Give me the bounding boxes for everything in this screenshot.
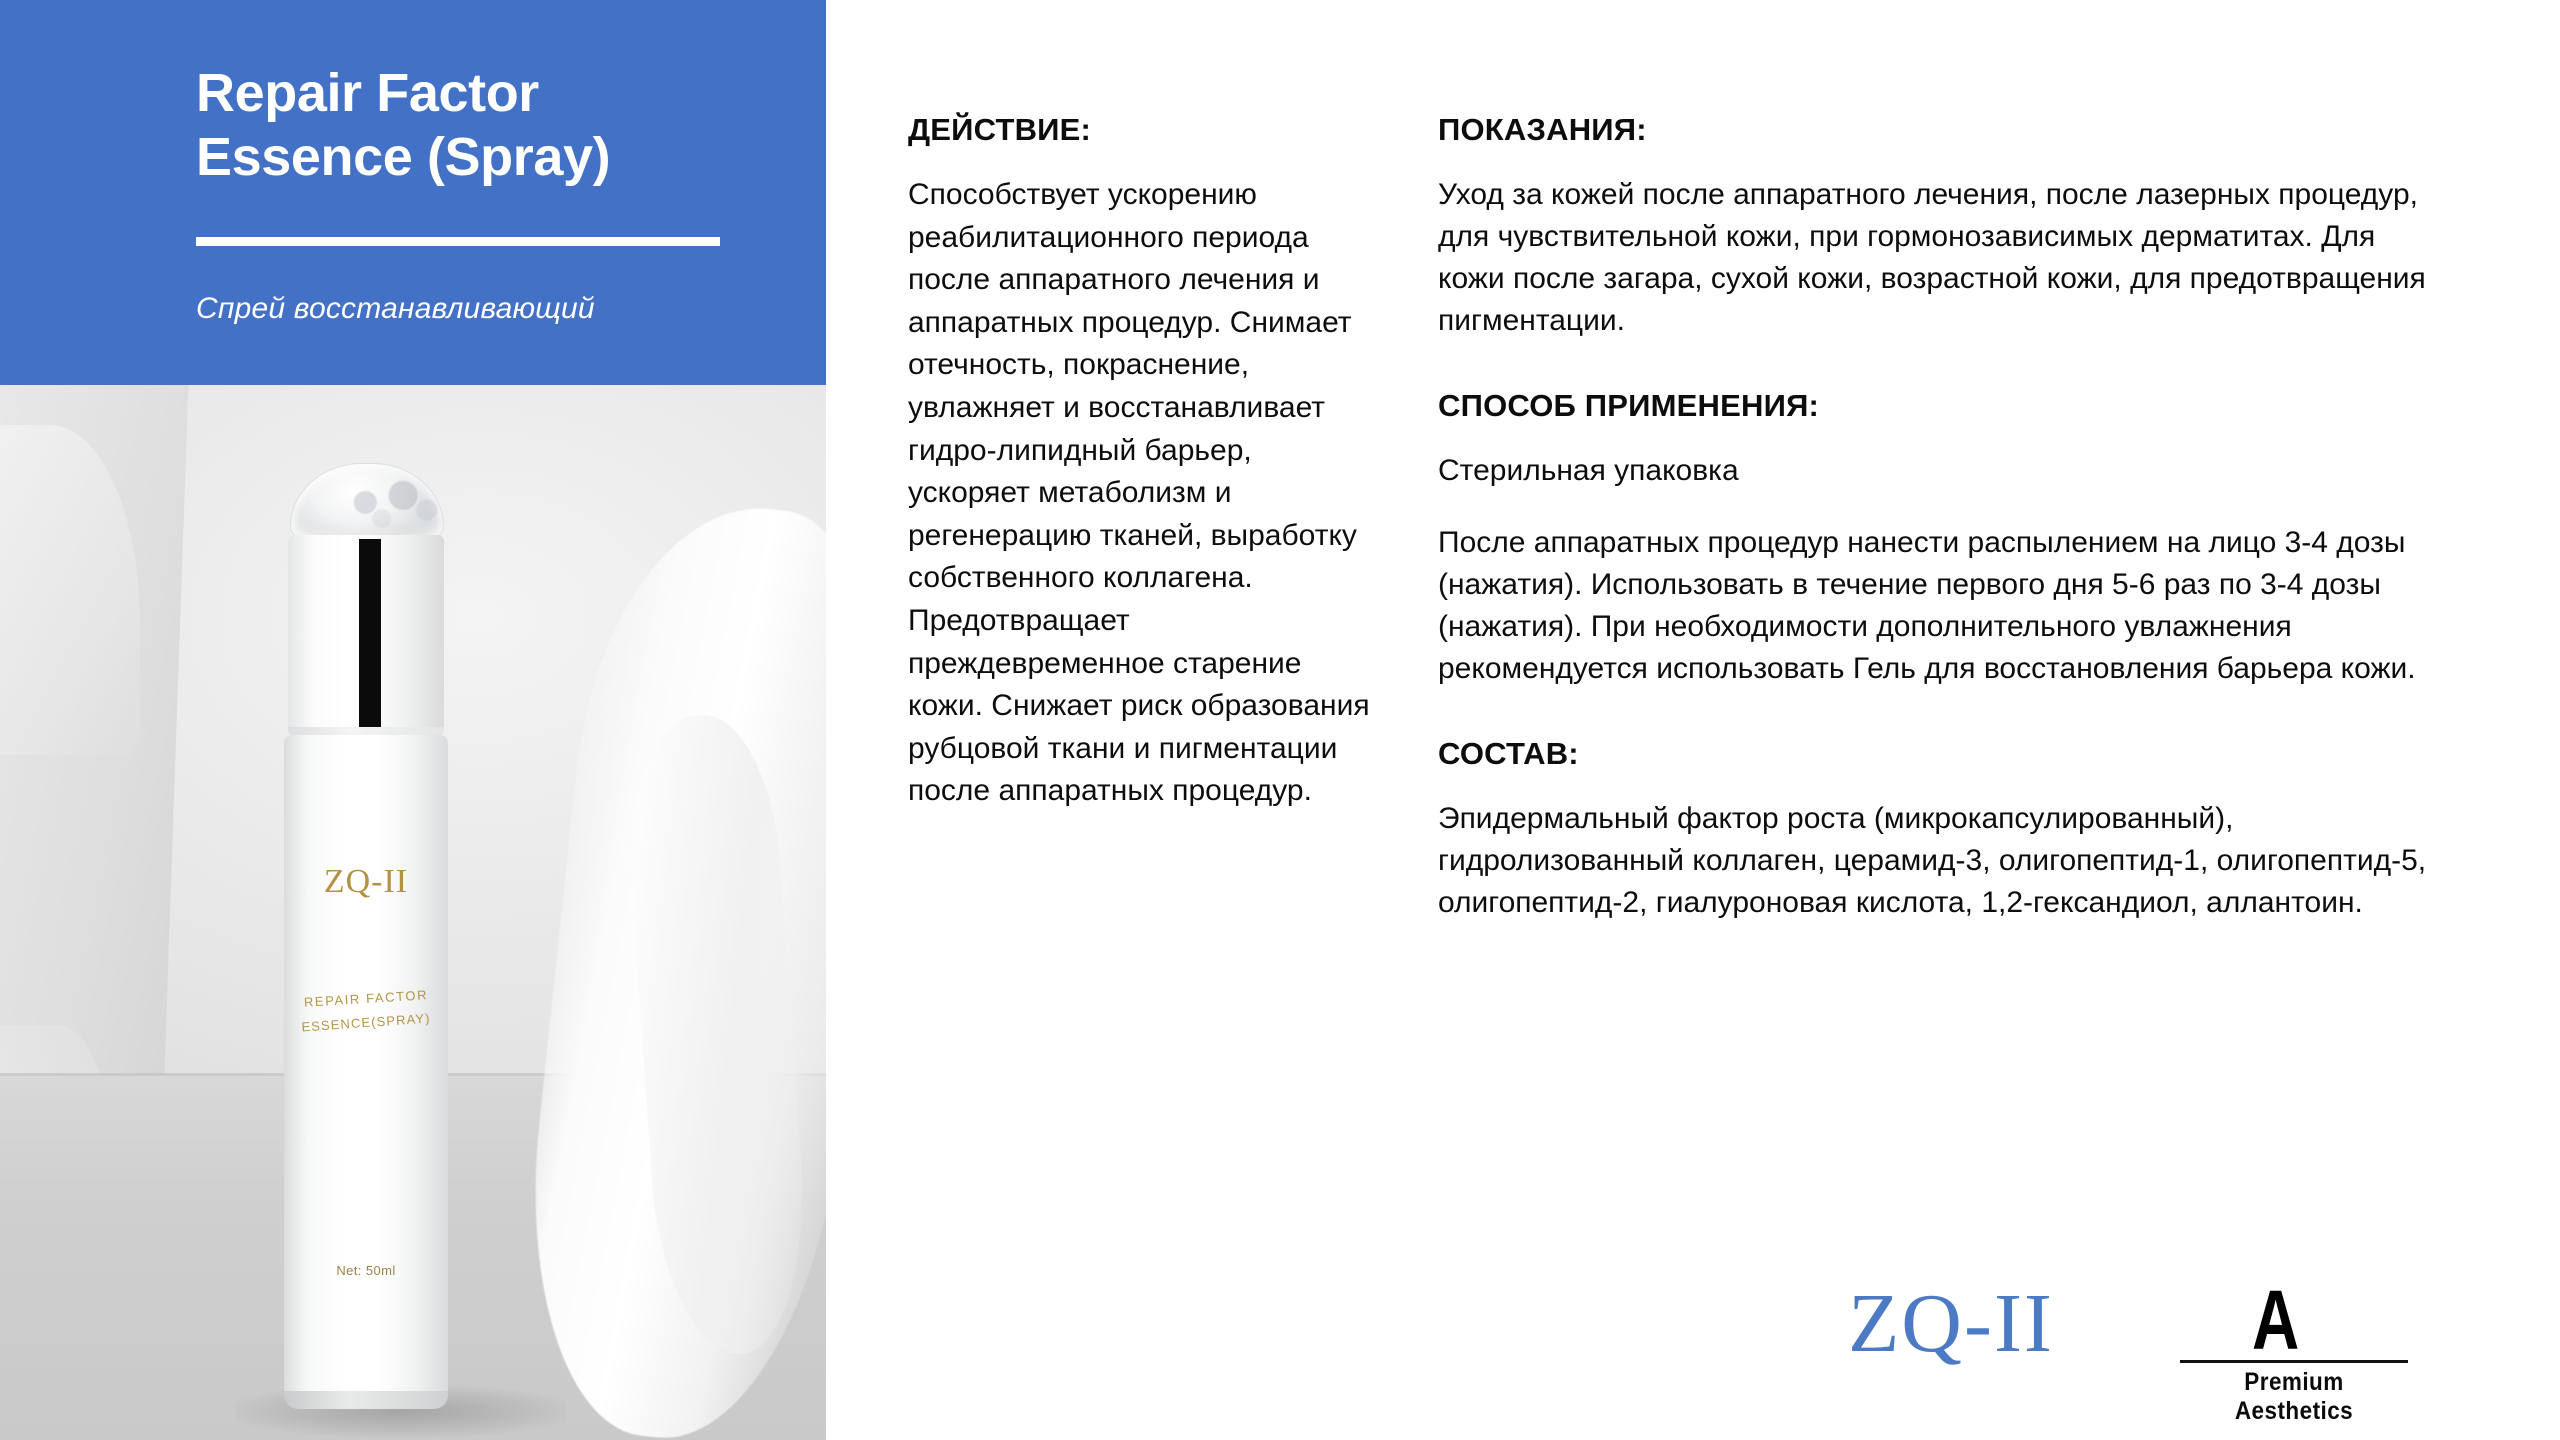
bottle-body <box>284 735 448 1407</box>
product-photo: ZQ-II REPAIR FACTOR ESSENCE(SPRAY) Net: … <box>0 385 826 1440</box>
product-bottle: ZQ-II REPAIR FACTOR ESSENCE(SPRAY) Net: … <box>262 463 470 1398</box>
section-heading-action: ДЕЙСТВИЕ: <box>908 112 1378 148</box>
brand-name-label: Premium Aesthetics <box>2191 1368 2396 1426</box>
section-body-usage-main: После аппаратных процедур нанести распыл… <box>1438 522 2438 690</box>
footer-logos: ZQ-II A Premium Aesthetics <box>1848 1282 2448 1412</box>
crystal-facets <box>337 478 455 536</box>
zq-ii-logo: ZQ-II <box>1848 1282 2054 1366</box>
section-heading-indications: ПОКАЗАНИЯ: <box>1438 112 2438 148</box>
section-body-composition: Эпидермальный фактор роста (микрокапсули… <box>1438 798 2438 924</box>
monogram-a-icon: A <box>2252 1284 2299 1356</box>
header-band: Repair Factor Essence (Spray) Спрей восс… <box>0 0 826 385</box>
section-body-action: Способствует ускорению реабилитационного… <box>908 174 1378 813</box>
section-body-usage-intro: Стерильная упаковка <box>1438 450 2438 492</box>
title-block: Repair Factor Essence (Spray) <box>196 62 796 189</box>
left-panel: Repair Factor Essence (Spray) Спрей восс… <box>0 0 826 1440</box>
bottle-base <box>284 1391 448 1409</box>
bottle-cap-stripe <box>359 539 381 735</box>
brand-divider <box>2180 1360 2408 1363</box>
bottle-brand-label: ZQ-II <box>284 863 448 901</box>
page-title: Repair Factor Essence (Spray) <box>196 62 796 189</box>
title-divider <box>196 237 720 246</box>
column-details: ПОКАЗАНИЯ: Уход за кожей после аппаратно… <box>1438 112 2438 924</box>
premium-aesthetics-logo: A Premium Aesthetics <box>2178 1284 2408 1408</box>
product-subtitle: Спрей восстанавливающий <box>196 292 595 326</box>
section-heading-usage: СПОСОБ ПРИМЕНЕНИЯ: <box>1438 388 2438 424</box>
section-heading-composition: СОСТАВ: <box>1438 736 2438 772</box>
bottle-net-volume: Net: 50ml <box>284 1263 448 1278</box>
spacer <box>1438 492 2438 522</box>
section-body-indications: Уход за кожей после аппаратного лечения,… <box>1438 174 2438 342</box>
column-action: ДЕЙСТВИЕ: Способствует ускорению реабили… <box>908 112 1378 813</box>
